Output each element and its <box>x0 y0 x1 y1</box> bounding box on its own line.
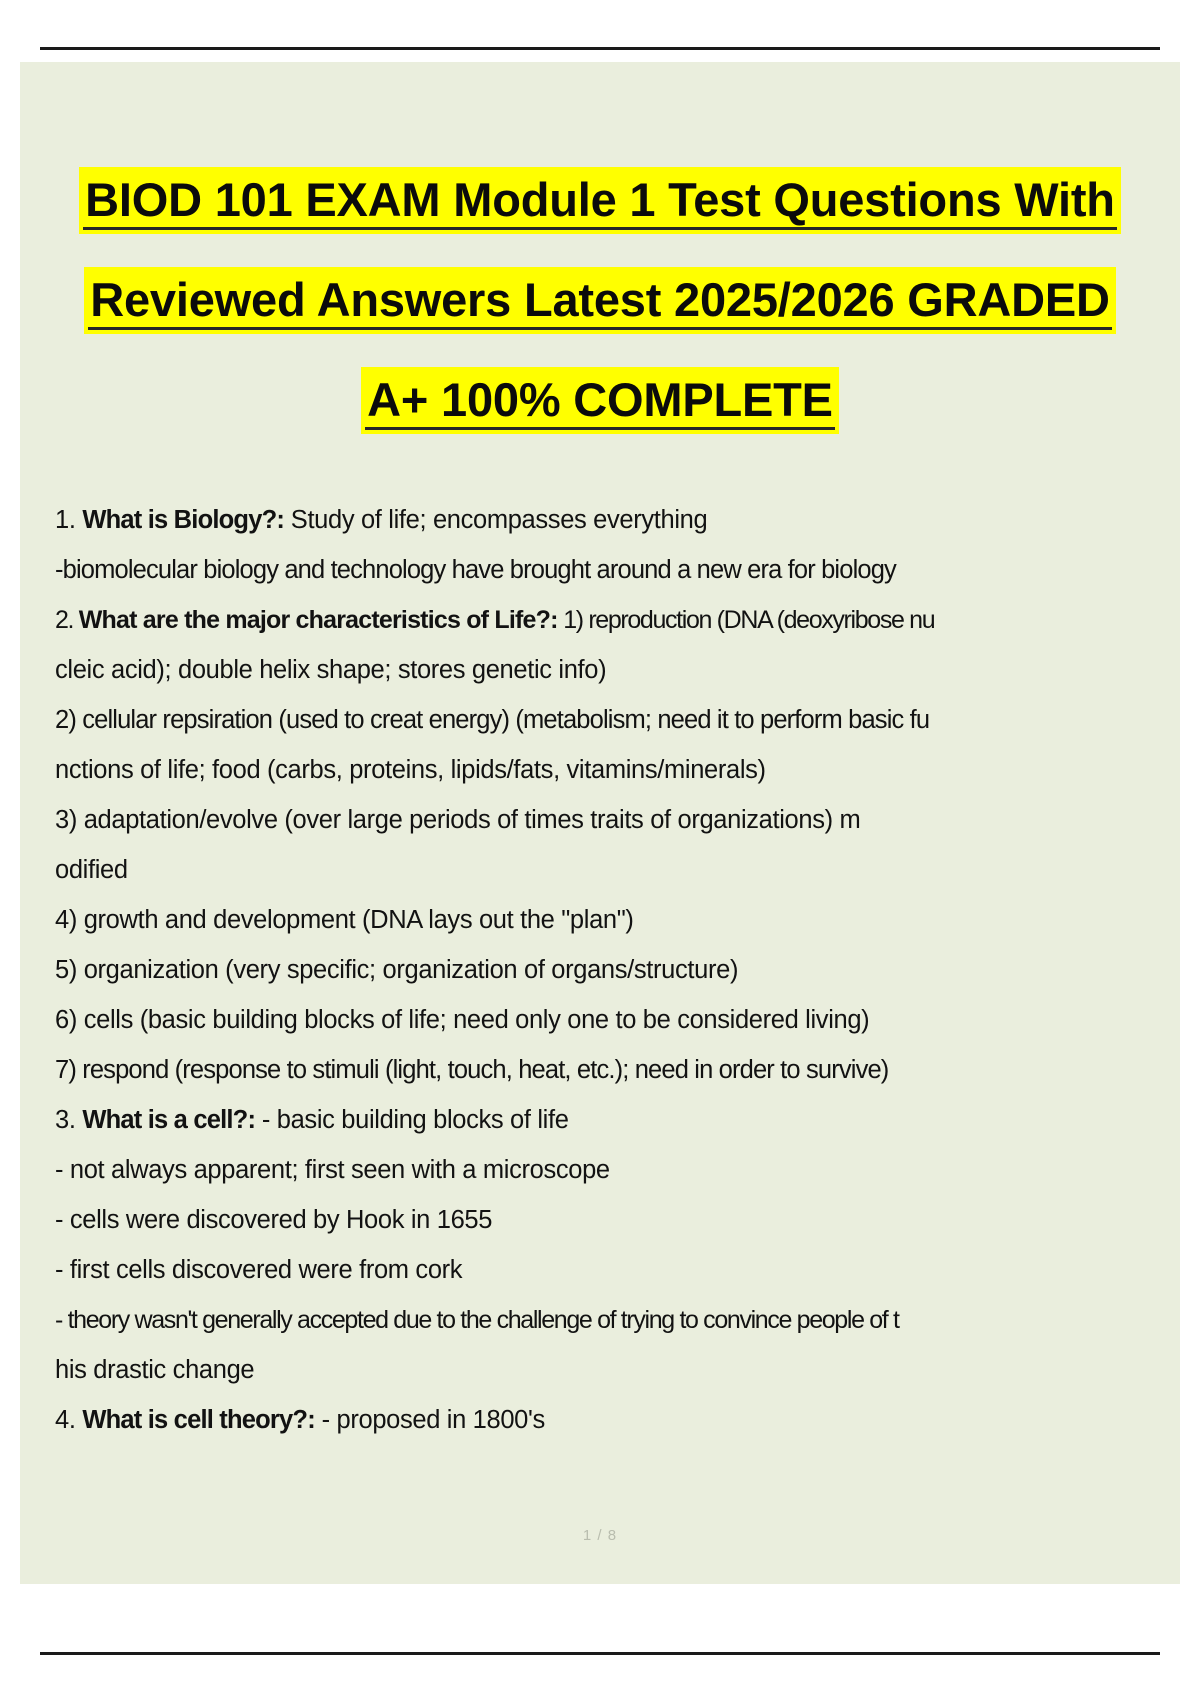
title-line-1-text: BIOD 101 EXAM Module 1 Test Questions Wi… <box>83 171 1117 230</box>
q3-question: What is a cell?: <box>82 1106 255 1134</box>
header-rule <box>40 47 1160 50</box>
footer-rule <box>40 1652 1160 1655</box>
qa-line-q3-b5: his drastic change <box>55 1345 1146 1395</box>
title-line-1: BIOD 101 EXAM Module 1 Test Questions Wi… <box>50 157 1150 243</box>
document-sheet: BIOD 101 EXAM Module 1 Test Questions Wi… <box>20 62 1180 1584</box>
qa-line-q2-l4: nctions of life; food (carbs, proteins, … <box>55 745 1146 795</box>
q3-number: 3. <box>55 1106 76 1134</box>
qa-line-q2-l9: 6) cells (basic building blocks of life;… <box>55 995 1146 1045</box>
qa-line-q1-b1: -biomolecular biology and technology hav… <box>55 545 1146 595</box>
title-line-2: Reviewed Answers Latest 2025/2026 GRADED <box>50 257 1150 343</box>
page-indicator: 1 / 8 <box>20 1527 1180 1544</box>
qa-line-q3-b3: - first cells discovered were from cork <box>55 1245 1146 1295</box>
q4-question: What is cell theory?: <box>82 1406 315 1434</box>
qa-line-q2-l6: odified <box>55 845 1146 895</box>
title-line-3-text: A+ 100% COMPLETE <box>365 371 835 430</box>
q2-number: 2. <box>55 606 73 634</box>
qa-line-q2: 2. What are the major characteristics of… <box>55 595 1146 645</box>
qa-line-q2-l8: 5) organization (very specific; organiza… <box>55 945 1146 995</box>
q2-answer: 1) reproduction (DNA (deoxyribose nu <box>558 606 935 634</box>
q2-question: What are the major characteristics of Li… <box>79 606 558 634</box>
qa-line-q4: 4. What is cell theory?: - proposed in 1… <box>55 1395 1146 1445</box>
qa-line-q2-l3: 2) cellular repsiration (used to creat e… <box>55 695 1146 745</box>
q3-answer: - basic building blocks of life <box>255 1106 568 1134</box>
qa-line-q2-l5: 3) adaptation/evolve (over large periods… <box>55 795 1146 845</box>
q4-number: 4. <box>55 1406 76 1434</box>
qa-line-q1: 1. What is Biology?: Study of life; enco… <box>55 495 1146 545</box>
title-line-2-text: Reviewed Answers Latest 2025/2026 GRADED <box>88 271 1112 330</box>
title-line-3: A+ 100% COMPLETE <box>50 357 1150 443</box>
document-body: 1. What is Biology?: Study of life; enco… <box>50 495 1150 1445</box>
qa-line-q2-l7: 4) growth and development (DNA lays out … <box>55 895 1146 945</box>
q1-answer: Study of life; encompasses everything <box>284 506 707 534</box>
qa-line-q3-b4: - theory wasn't generally accepted due t… <box>55 1295 1146 1345</box>
page-frame: BIOD 101 EXAM Module 1 Test Questions Wi… <box>0 0 1200 1700</box>
q1-question: What is Biology?: <box>82 506 284 534</box>
qa-line-q3-b2: - cells were discovered by Hook in 1655 <box>55 1195 1146 1245</box>
q4-answer: - proposed in 1800's <box>315 1406 545 1434</box>
qa-line-q2-l10: 7) respond (response to stimuli (light, … <box>55 1045 1146 1095</box>
qa-line-q3: 3. What is a cell?: - basic building blo… <box>55 1095 1146 1145</box>
qa-line-q3-b1: - not always apparent; first seen with a… <box>55 1145 1146 1195</box>
q1-number: 1. <box>55 506 76 534</box>
page-title: BIOD 101 EXAM Module 1 Test Questions Wi… <box>50 62 1150 443</box>
qa-line-q2-l2: cleic acid); double helix shape; stores … <box>55 645 1146 695</box>
